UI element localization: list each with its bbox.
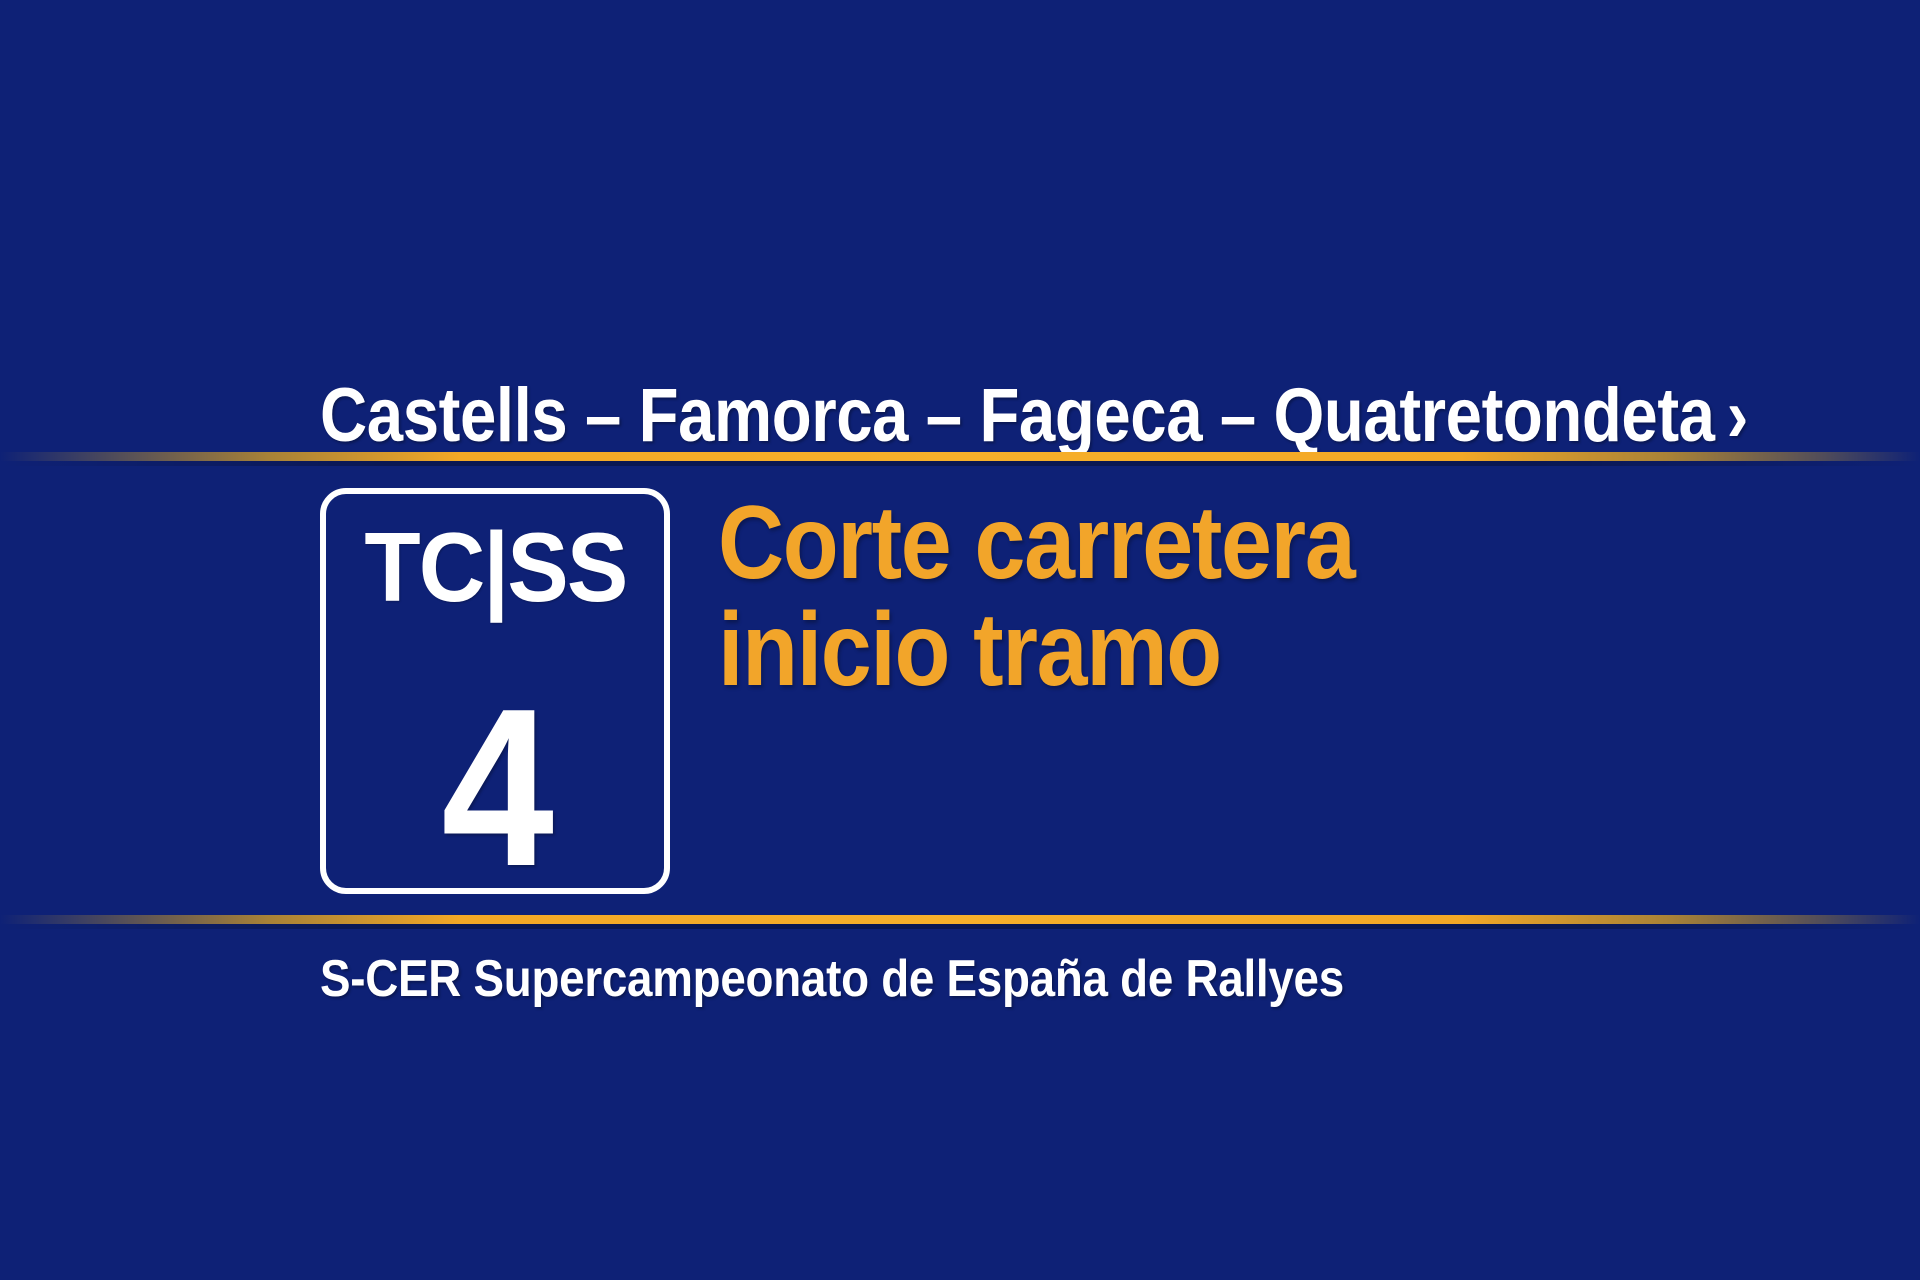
stage-info-band: TC|SS 4 Corte carretera inicio tramo [320,488,1880,900]
notice-headline: Corte carretera inicio tramo [718,488,1741,704]
stage-badge-code: TC|SS [364,518,626,616]
stage-notice-card: Castells – Famorca – Fageca – Quatretond… [0,0,1920,1280]
route-title-text: Castells – Famorca – Fageca – Quatretond… [320,380,1715,452]
stage-badge: TC|SS 4 [320,488,670,894]
notice-headline-line-1: Corte carretera [718,490,1741,597]
divider-top [0,452,1920,461]
divider-bottom [0,915,1920,924]
route-title[interactable]: Castells – Famorca – Fageca – Quatretond… [320,360,1662,452]
notice-headline-line-2: inicio tramo [718,597,1741,704]
chevron-right-icon: › [1727,380,1748,452]
series-name: S-CER Supercampeonato de España de Rally… [320,952,1693,1007]
stage-badge-number: 4 [343,691,647,885]
